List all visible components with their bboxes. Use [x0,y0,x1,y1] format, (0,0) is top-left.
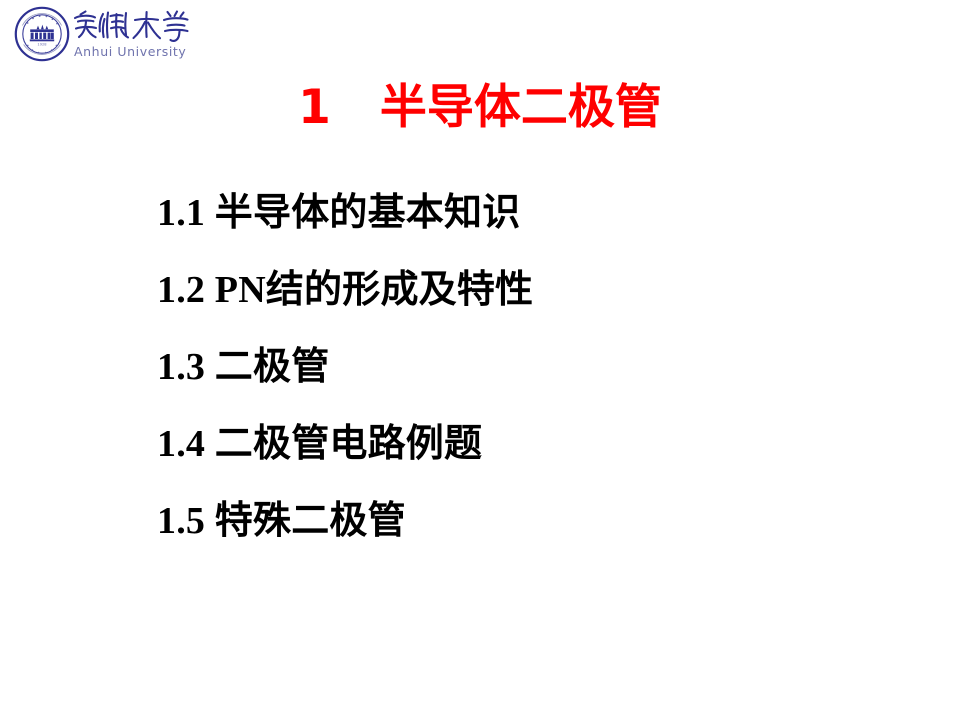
svg-text:1928: 1928 [37,43,47,47]
slide-title: 1 半导体二极管 [0,78,960,138]
outline-list: 1.1 半导体的基本知识 1.2 PN结的形成及特性 1.3 二极管 1.4 二… [157,190,897,575]
outline-item-1: 1.1 半导体的基本知识 [157,190,897,267]
outline-item-2: 1.2 PN结的形成及特性 [157,267,897,344]
logo-wordmark-chinese [72,8,192,44]
outline-item-5: 1.5 特殊二极管 [157,498,897,575]
slide-canvas: 1928 [0,0,960,720]
anhui-university-seal-icon: 1928 [14,6,70,62]
outline-item-4: 1.4 二极管电路例题 [157,421,897,498]
outline-item-3: 1.3 二极管 [157,344,897,421]
university-logo: 1928 [8,4,198,64]
logo-wordmark-english: Anhui University [74,44,192,59]
